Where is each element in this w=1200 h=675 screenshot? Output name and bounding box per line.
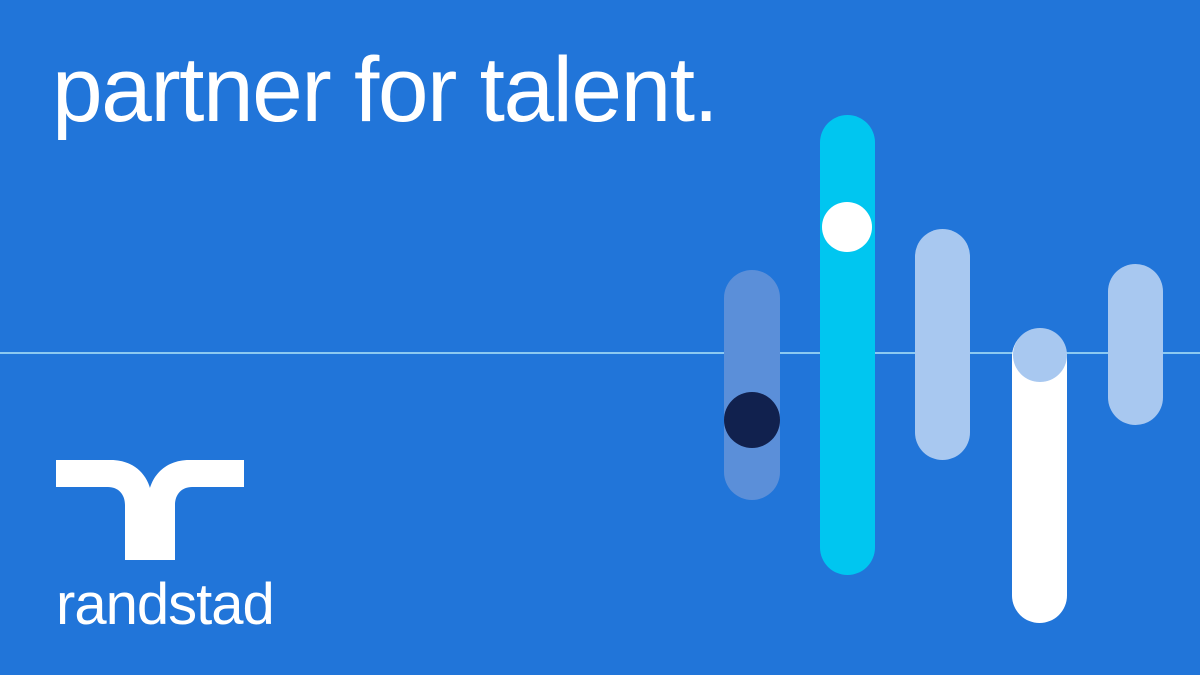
- marker-dot-white: [822, 202, 872, 252]
- bar-1: [724, 270, 780, 500]
- brand-wordmark: randstad: [56, 576, 256, 634]
- marker-dot-navy: [724, 392, 780, 448]
- bar-3: [915, 229, 970, 460]
- page-title: partner for talent.: [52, 44, 717, 136]
- brand-logo-lockup[interactable]: randstad: [56, 458, 256, 634]
- brand-banner: partner for talent. randstad: [0, 0, 1200, 675]
- marker-dot-light-blue: [1013, 328, 1067, 382]
- randstad-y-mark-icon: [56, 458, 244, 562]
- bar-2: [820, 115, 875, 575]
- bar-5: [1108, 264, 1163, 425]
- horizontal-baseline-rule: [0, 352, 1200, 354]
- bar-4: [1012, 329, 1067, 623]
